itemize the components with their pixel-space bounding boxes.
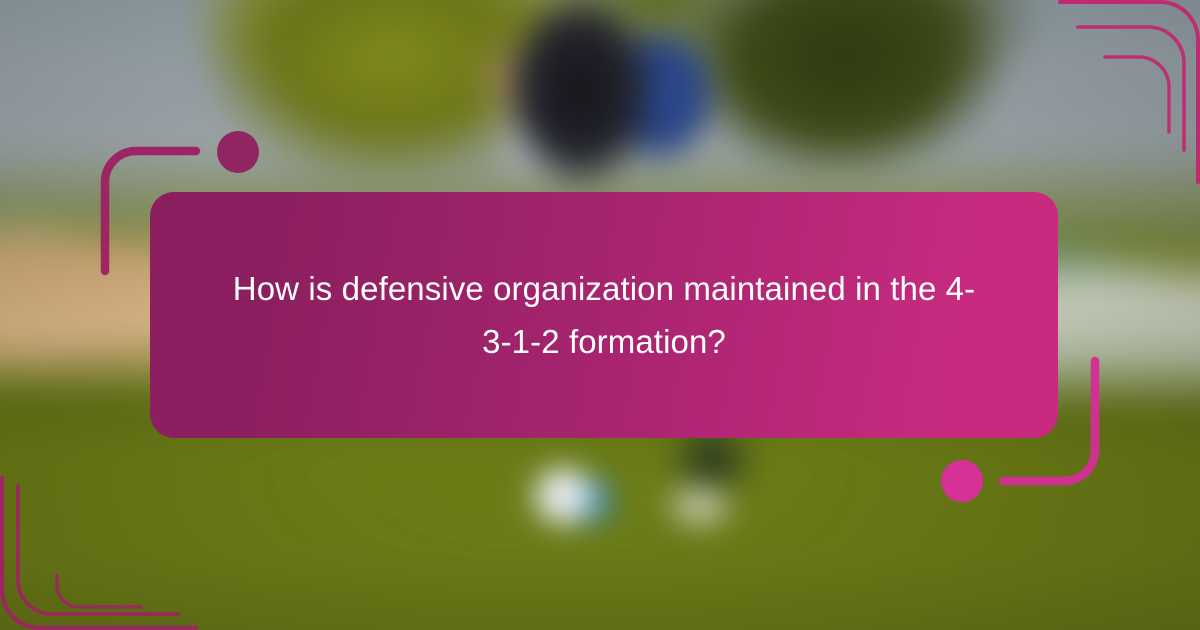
share-card-canvas: How is defensive organization maintained… [0, 0, 1200, 630]
question-text: How is defensive organization maintained… [224, 262, 984, 369]
question-card: How is defensive organization maintained… [150, 192, 1058, 438]
